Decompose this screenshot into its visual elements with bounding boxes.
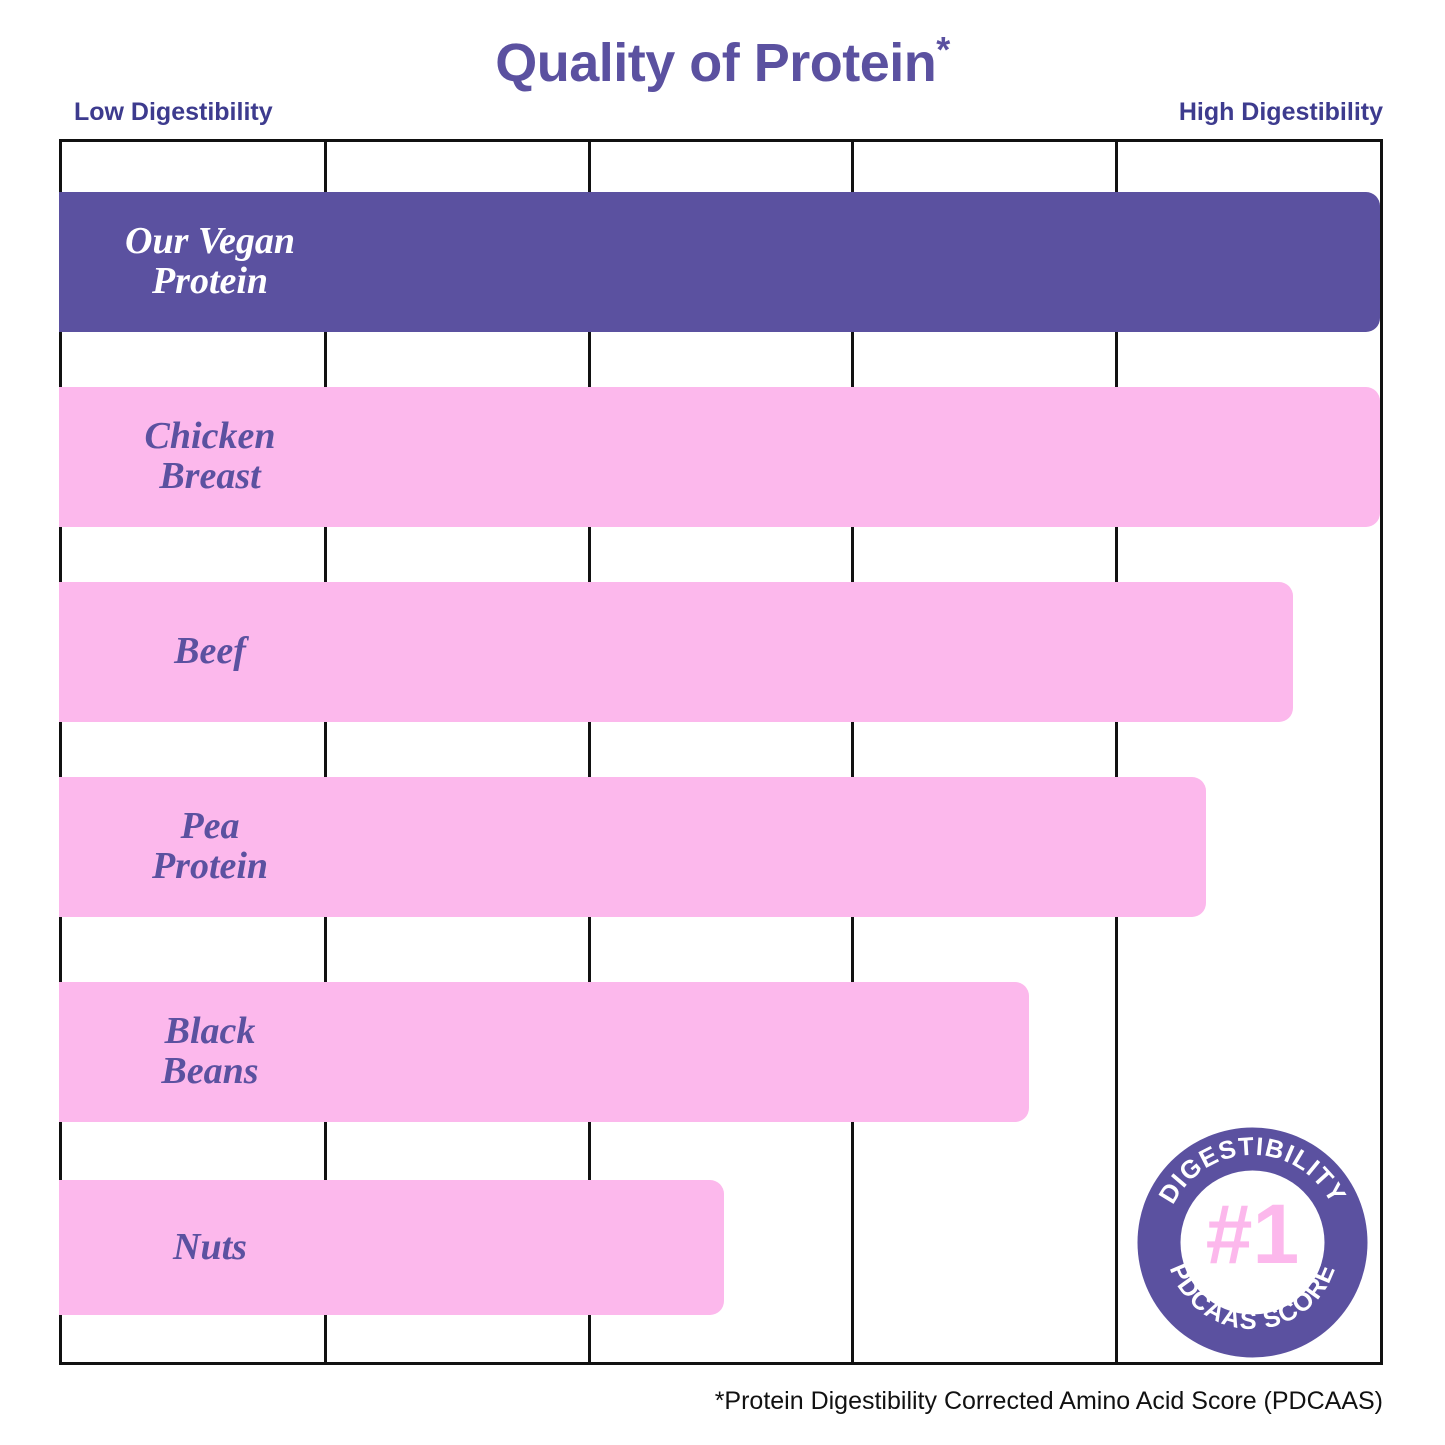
page-title-text: Quality of Protein <box>495 33 936 93</box>
footnote: *Protein Digestibility Corrected Amino A… <box>715 1387 1383 1416</box>
badge-center-text: #1 <box>1206 1187 1299 1281</box>
bar-beef: Beef <box>59 582 1293 722</box>
bar-label-black-beans: Black Beans <box>85 1012 335 1091</box>
bar-label-chicken-breast: Chicken Breast <box>85 417 335 496</box>
axis-label-high-digestibility: High Digestibility <box>1179 98 1383 127</box>
bar-pea-protein: Pea Protein <box>59 777 1206 917</box>
infographic-canvas: Quality of Protein* Low Digestibility Hi… <box>0 0 1445 1445</box>
bar-chicken-breast: Chicken Breast <box>59 387 1380 527</box>
bar-our-vegan-protein: Our Vegan Protein <box>59 192 1380 332</box>
axis-label-low-digestibility: Low Digestibility <box>74 98 273 127</box>
page-title: Quality of Protein* <box>0 32 1445 94</box>
bar-black-beans: Black Beans <box>59 982 1029 1122</box>
bar-nuts: Nuts <box>59 1180 724 1315</box>
bar-label-nuts: Nuts <box>85 1228 335 1268</box>
bar-label-pea-protein: Pea Protein <box>85 807 335 886</box>
bar-label-our-vegan-protein: Our Vegan Protein <box>85 222 335 301</box>
title-asterisk: * <box>936 29 950 70</box>
bar-label-beef: Beef <box>85 632 335 672</box>
pdcaas-badge: DIGESTIBILITY PDCAAS SCORE #1 <box>1135 1125 1370 1360</box>
